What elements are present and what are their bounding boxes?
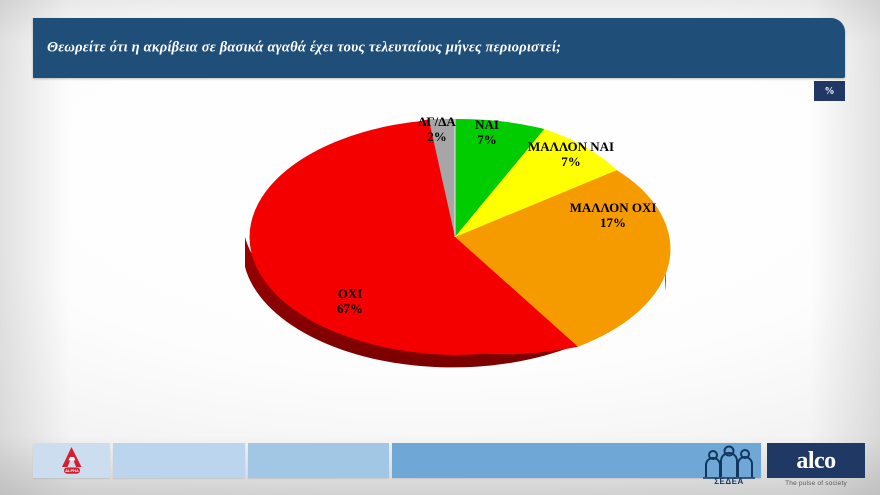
slice-label-mallon-oxi-name: ΜΑΛΛΟΝ ΟΧΙ [550,201,676,216]
question-header-bar: Θεωρείτε ότι η ακρίβεια σε βασικά αγαθά … [33,18,845,78]
alco-tagline: The pulse of society [767,480,865,487]
alpha-tv-logo-icon: ALPHA [58,446,86,475]
footer-segment-3 [248,443,389,478]
slice-label-oxi-value: 67% [310,302,390,317]
slice-label-mallon-nai-name: ΜΑΛΛΟΝ ΝΑΙ [508,140,634,155]
slice-label-mallon-oxi-value: 17% [550,216,676,231]
slice-label-mallon-oxi: ΜΑΛΛΟΝ ΟΧΙ 17% [550,201,676,230]
slice-label-mallon-nai-value: 7% [508,155,634,170]
page-title: Θεωρείτε ότι η ακρίβεια σε βασικά αγαθά … [47,40,561,57]
slide-canvas: Θεωρείτε ότι η ακρίβεια σε βασικά αγαθά … [0,0,880,495]
pie-chart: ΔΓ/ΔΑ 2% ΝΑΙ 7% ΜΑΛΛΟΝ ΝΑΙ 7% ΜΑΛΛΟΝ ΟΧΙ… [0,95,880,415]
sedea-label: ΣΕΔΕΑ [699,477,759,486]
svg-text:ALPHA: ALPHA [65,468,79,473]
alco-wordmark: alco [796,449,835,473]
slice-label-nai-name: ΝΑΙ [457,118,517,133]
alco-logo: alco [767,443,865,478]
percent-unit-badge: % [814,81,845,101]
slice-label-oxi-name: ΟΧΙ [310,287,390,302]
slice-label-mallon-nai: ΜΑΛΛΟΝ ΝΑΙ 7% [508,140,634,169]
footer-bar: ALPHA ΣΕΔΕΑ alco The pulse of society [0,435,880,495]
slice-label-oxi: ΟΧΙ 67% [310,287,390,316]
footer-segment-2 [113,443,245,478]
